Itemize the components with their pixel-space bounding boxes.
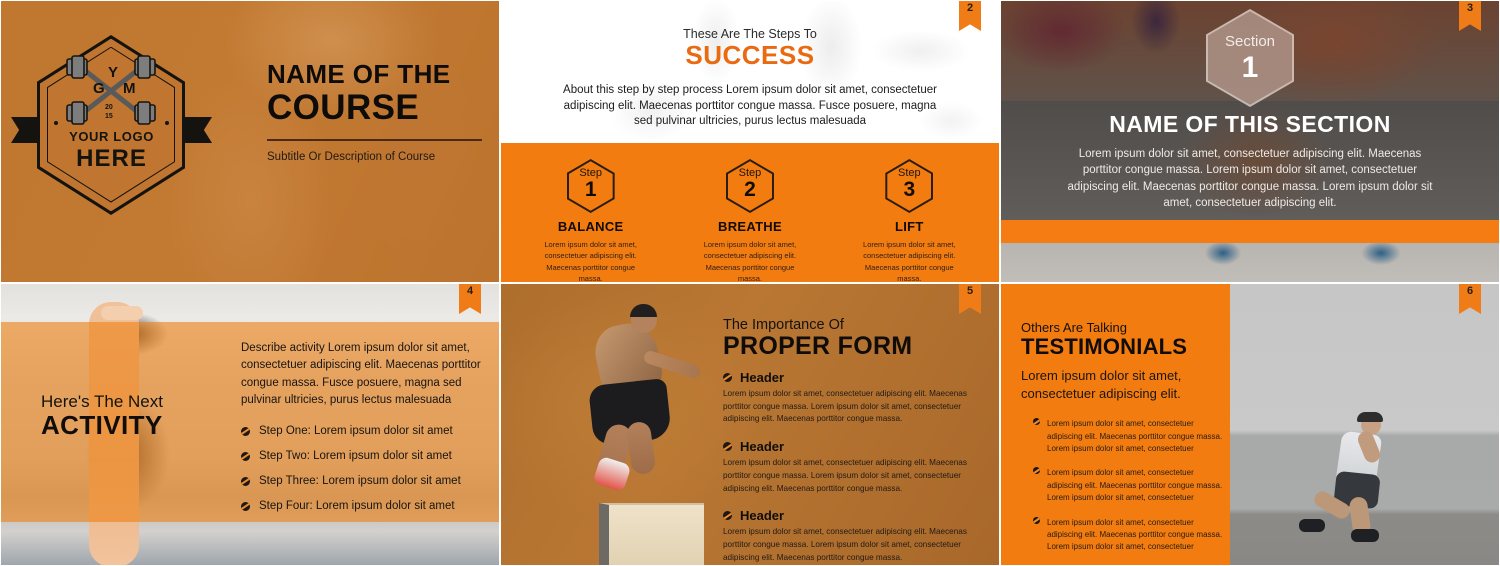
slide-4-content: Describe activity Lorem ipsum dolor sit … — [241, 340, 481, 525]
slide-5-eyebrow: The Importance Of — [723, 317, 981, 333]
slide-2-heading: These Are The Steps To SUCCESS — [541, 27, 959, 70]
slide-3-section-divider[interactable]: 3 Section 1 NAME OF THIS SECTION Lorem i… — [1000, 0, 1500, 283]
list-item[interactable]: Step Four: Lorem ipsum dolor sit amet — [241, 500, 481, 512]
slide-number-text: 4 — [467, 286, 473, 297]
section-hex-number: 1 — [1206, 53, 1294, 83]
slide-deck-grid: G Y M 20 15 YOUR LOGO HERE NAME OF THE C… — [0, 0, 1500, 566]
logo-label-line1: YOUR LOGO — [9, 129, 214, 144]
slide-5-heading: The Importance Of PROPER FORM — [723, 317, 981, 361]
course-title-line2: COURSE — [267, 90, 482, 127]
slide-5-proper-form[interactable]: 5 The Importance Of PROPER FORM Header L… — [500, 283, 1000, 566]
step-hexagon-icon: Step 2 — [726, 159, 774, 213]
box-jump-athlete-photo — [549, 302, 684, 497]
section-hex-label: Section — [1206, 33, 1294, 50]
steps-row: Step 1 BALANCE Lorem ipsum dolor sit ame… — [511, 159, 989, 283]
list-item-label: Lorem ipsum dolor sit amet, consectetuer… — [1047, 418, 1226, 455]
logo-dot-right-icon — [165, 121, 169, 125]
slash-circle-bullet-icon — [723, 373, 732, 382]
slide-number-text: 5 — [967, 286, 973, 297]
slash-circle-bullet-icon — [1033, 517, 1040, 524]
slash-circle-bullet-icon — [1033, 418, 1040, 425]
step-description: Lorem ipsum dolor sit amet, consectetuer… — [511, 239, 670, 283]
block-body: Lorem ipsum dolor sit amet, consectetuer… — [723, 388, 981, 426]
step-hex-number: 1 — [567, 179, 615, 200]
block-body: Lorem ipsum dolor sit amet, consectetuer… — [723, 457, 981, 495]
course-subtitle: Subtitle Or Description of Course — [267, 151, 482, 163]
slash-circle-bullet-icon — [1033, 467, 1040, 474]
crossed-dumbbells-icon: G Y M 20 15 — [61, 55, 161, 127]
block-header: Header — [740, 439, 784, 454]
list-item-label: Step Three: Lorem ipsum dolor sit amet — [259, 475, 461, 487]
step-description: Lorem ipsum dolor sit amet, consectetuer… — [830, 239, 989, 283]
block-body: Lorem ipsum dolor sit amet, consectetuer… — [723, 526, 981, 564]
logo-letter-y: Y — [108, 64, 118, 81]
slide-4-step-list: Step One: Lorem ipsum dolor sit amet Ste… — [241, 425, 481, 512]
sprinting-athlete-photo — [1299, 415, 1419, 543]
list-item-label: Lorem ipsum dolor sit amet, consectetuer… — [1047, 517, 1226, 554]
block-header: Header — [740, 508, 784, 523]
step-title: BALANCE — [511, 219, 670, 234]
slide-2-body-text: About this step by step process Lorem ip… — [553, 83, 947, 130]
slide-3-orange-stripe — [1001, 220, 1499, 243]
step-hexagon-icon: Step 3 — [885, 159, 933, 213]
slide-4-activity[interactable]: 4 Here's The Next ACTIVITY Describe acti… — [0, 283, 500, 566]
list-item[interactable]: Step Three: Lorem ipsum dolor sit amet — [241, 475, 481, 487]
course-title-line1: NAME OF THE — [267, 61, 482, 88]
testimonial-list: Lorem ipsum dolor sit amet, consectetuer… — [1021, 418, 1226, 554]
slide-4-title-line2: ACTIVITY — [41, 412, 221, 439]
slide-6-title: TESTIMONIALS — [1021, 335, 1226, 359]
list-item[interactable]: Lorem ipsum dolor sit amet, consectetuer… — [1033, 467, 1226, 504]
slide-1-text-block: NAME OF THE COURSE Subtitle Or Descripti… — [267, 61, 482, 163]
logo-letter-g: G — [93, 80, 105, 97]
slide-6-content: Others Are Talking TESTIMONIALS Lorem ip… — [1021, 320, 1226, 566]
step-title: BREATHE — [670, 219, 829, 234]
slash-circle-bullet-icon — [723, 442, 732, 451]
list-item-label: Lorem ipsum dolor sit amet, consectetuer… — [1047, 467, 1226, 504]
slide-number-text: 2 — [967, 3, 973, 14]
step-item-1[interactable]: Step 1 BALANCE Lorem ipsum dolor sit ame… — [511, 159, 670, 283]
slide-5-title: PROPER FORM — [723, 333, 981, 361]
step-item-2[interactable]: Step 2 BREATHE Lorem ipsum dolor sit ame… — [670, 159, 829, 283]
slash-circle-bullet-icon — [723, 511, 732, 520]
title-divider — [267, 139, 482, 141]
list-item-label: Step Four: Lorem ipsum dolor sit amet — [259, 500, 455, 512]
slide-1-title[interactable]: G Y M 20 15 YOUR LOGO HERE NAME OF THE C… — [0, 0, 500, 283]
logo-dot-left-icon — [54, 121, 58, 125]
list-item[interactable]: Step Two: Lorem ipsum dolor sit amet — [241, 450, 481, 462]
slide-number-text: 3 — [1467, 3, 1473, 14]
slash-circle-bullet-icon — [241, 427, 250, 436]
slide-6-testimonials[interactable]: 6 Others Are Talking TESTIMONIALS Lorem … — [1000, 283, 1500, 566]
step-hex-number: 2 — [726, 179, 774, 200]
slide-2-eyebrow: These Are The Steps To — [541, 27, 959, 41]
slide-3-title: NAME OF THIS SECTION — [1001, 111, 1499, 138]
step-hexagon-icon: Step 1 — [567, 159, 615, 213]
step-item-3[interactable]: Step 3 LIFT Lorem ipsum dolor sit amet, … — [830, 159, 989, 283]
slide-4-heading: Here's The Next ACTIVITY — [41, 392, 221, 439]
slide-6-subtitle: Lorem ipsum dolor sit amet, consectetuer… — [1021, 367, 1226, 402]
slide-6-eyebrow: Others Are Talking — [1021, 320, 1226, 335]
list-item-label: Step Two: Lorem ipsum dolor sit amet — [259, 450, 452, 462]
section-hexagon-icon: Section 1 — [1206, 9, 1294, 107]
list-item[interactable]: Lorem ipsum dolor sit amet, consectetuer… — [1033, 517, 1226, 554]
plyo-box-photo — [599, 503, 704, 565]
logo-year-bottom: 15 — [105, 113, 113, 120]
logo-letter-m: M — [123, 80, 136, 97]
slide-2-title: SUCCESS — [541, 41, 959, 70]
slide-number-text: 6 — [1467, 286, 1473, 297]
slide-4-title-line1: Here's The Next — [41, 392, 221, 412]
content-block[interactable]: Header Lorem ipsum dolor sit amet, conse… — [723, 370, 981, 426]
list-item-label: Step One: Lorem ipsum dolor sit amet — [259, 425, 453, 437]
block-header: Header — [740, 370, 784, 385]
slide-2-steps[interactable]: 2 These Are The Steps To SUCCESS About t… — [500, 0, 1000, 283]
step-hex-number: 3 — [885, 179, 933, 200]
logo-label-line2: HERE — [9, 145, 214, 173]
content-block[interactable]: Header Lorem ipsum dolor sit amet, conse… — [723, 439, 981, 495]
logo-year-top: 20 — [105, 104, 113, 111]
slash-circle-bullet-icon — [241, 452, 250, 461]
step-title: LIFT — [830, 219, 989, 234]
slide-3-body-text: Lorem ipsum dolor sit amet, consectetuer… — [1061, 146, 1439, 211]
content-block[interactable]: Header Lorem ipsum dolor sit amet, conse… — [723, 508, 981, 564]
list-item[interactable]: Step One: Lorem ipsum dolor sit amet — [241, 425, 481, 437]
list-item[interactable]: Lorem ipsum dolor sit amet, consectetuer… — [1033, 418, 1226, 455]
step-description: Lorem ipsum dolor sit amet, consectetuer… — [670, 239, 829, 283]
slash-circle-bullet-icon — [241, 502, 250, 511]
slide-5-content-blocks: Header Lorem ipsum dolor sit amet, conse… — [723, 370, 981, 566]
slash-circle-bullet-icon — [241, 477, 250, 486]
gym-logo: G Y M 20 15 YOUR LOGO HERE — [9, 33, 214, 218]
slide-4-paragraph: Describe activity Lorem ipsum dolor sit … — [241, 340, 481, 409]
